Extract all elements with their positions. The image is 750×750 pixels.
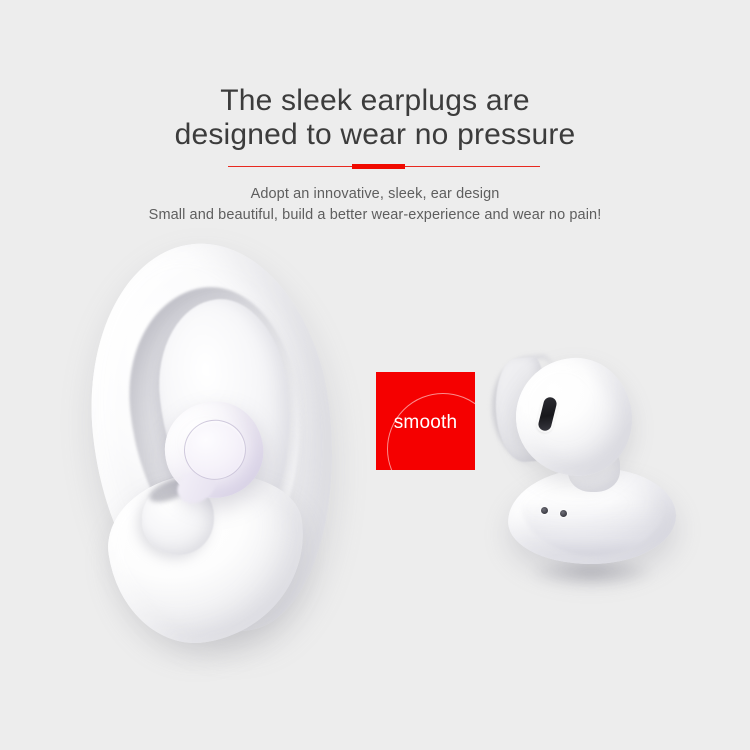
subtitle-block: Adopt an innovative, sleek, ear design S… [0,184,750,226]
header-block: The sleek earplugs are designed to wear … [0,84,750,226]
smooth-badge: smooth [376,372,475,470]
ear-model-image [70,235,380,655]
earbud-mic-hole-2 [560,510,567,517]
title-divider [0,162,750,172]
earbud-product-image [490,350,690,630]
divider-accent-segment [352,164,405,169]
page-title: The sleek earplugs are designed to wear … [0,84,750,152]
subtitle-line-1: Adopt an innovative, sleek, ear design [0,184,750,205]
product-poster: The sleek earplugs are designed to wear … [0,0,750,750]
badge-label: smooth [376,372,475,470]
subtitle-line-2: Small and beautiful, build a better wear… [0,205,750,226]
earbud-mic-hole-1 [541,507,548,514]
